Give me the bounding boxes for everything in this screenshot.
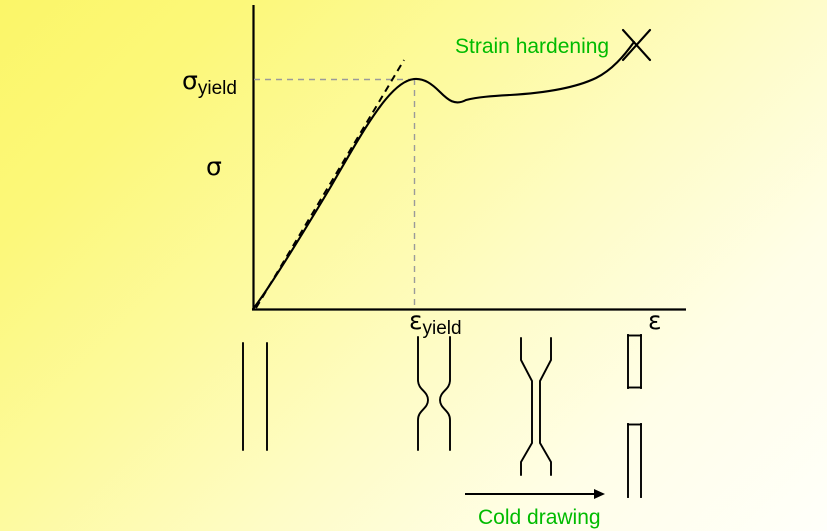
stress-strain-curve — [253, 42, 634, 309]
strain-hardening-annotation: Strain hardening — [455, 36, 609, 57]
sigma-yield-axis-label: σyield — [182, 68, 237, 93]
stress-strain-figure — [0, 0, 827, 531]
y-axis-label: σ — [206, 154, 222, 179]
undeformed-specimen — [243, 343, 267, 450]
slide-canvas: σyield σ εyield ε Strain hardening Cold … — [0, 0, 827, 531]
cold-drawn-specimen — [521, 338, 551, 475]
epsilon-yield-subscript: yield — [423, 318, 462, 339]
x-axis-label: ε — [648, 308, 662, 333]
sigma-yield-subscript: yield — [198, 78, 237, 99]
fracture-x-icon — [623, 30, 650, 60]
cold-drawing-arrow — [465, 489, 605, 499]
fractured-specimen-bottom — [628, 424, 641, 497]
guide-lines-group — [254, 79, 415, 309]
cold-drawing-annotation: Cold drawing — [478, 507, 601, 528]
fractured-specimen-top — [628, 335, 641, 388]
epsilon-yield-axis-label: εyield — [409, 308, 462, 333]
sigma-yield-symbol: σ — [182, 66, 198, 95]
fractured-specimen — [628, 335, 641, 497]
epsilon-yield-symbol: ε — [409, 306, 423, 335]
necking-specimen — [418, 337, 450, 450]
